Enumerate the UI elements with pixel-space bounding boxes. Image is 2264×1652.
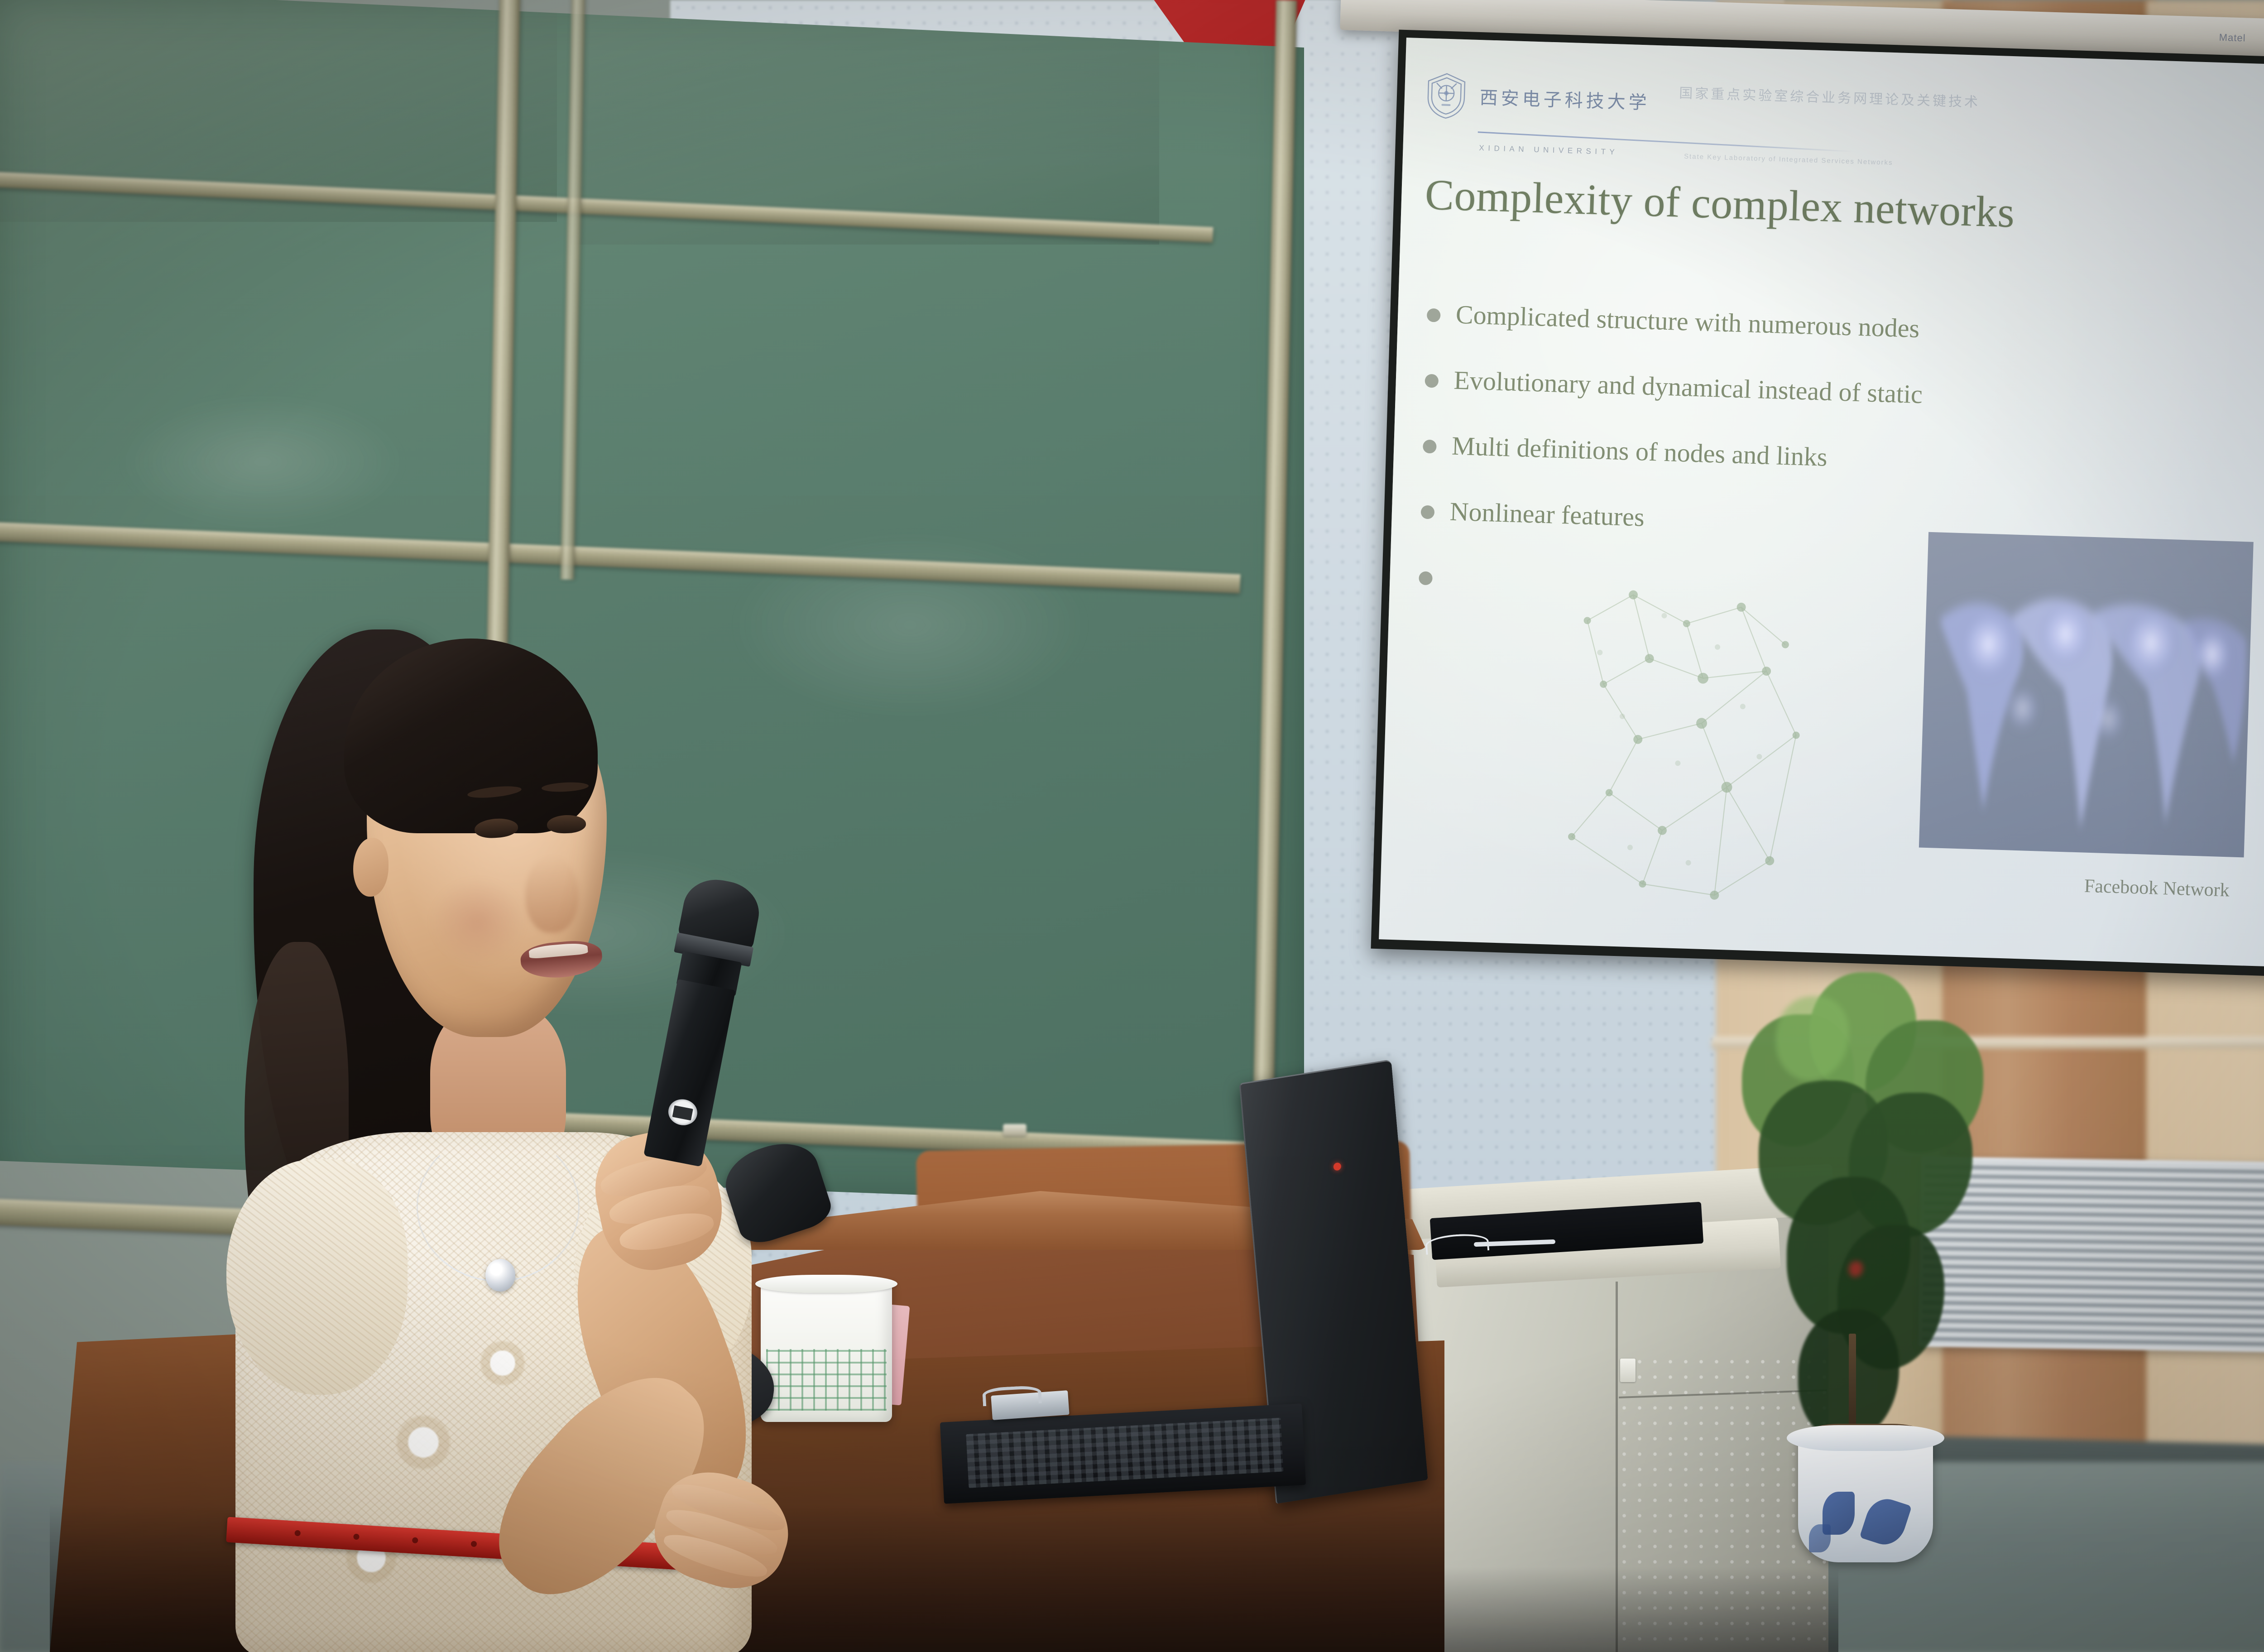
ear: [353, 838, 389, 897]
presentation-slide: 西安电子科技大学 XIDIAN UNIVERSITY 国家重点实验室综合业务网理…: [1379, 38, 2264, 967]
network-graph-figure: [1542, 557, 1824, 926]
pot-blue-motif: [1809, 1524, 1831, 1552]
figure-caption: Facebook Network: [2084, 875, 2230, 901]
bullet-dot-icon: [1427, 308, 1441, 322]
bullet-dot-icon: [1419, 571, 1433, 585]
slide-header-sub-cn: 国家重点实验室综合业务网理论及关键技术: [1679, 82, 1981, 111]
slide-bullet-item: Multi definitions of nodes and links: [1422, 432, 2253, 485]
presenter: [281, 625, 960, 1652]
bullet-dot-icon: [1425, 374, 1439, 388]
belt-hole: [412, 1537, 418, 1544]
cheek-shadow: [430, 879, 525, 965]
slide-bullet-text: Complicated structure with numerous node…: [1455, 301, 1920, 342]
cabinet-floor-shadow: [1404, 1567, 1838, 1652]
pot-rim: [1787, 1425, 1944, 1451]
potted-plant: [1725, 960, 2006, 1562]
porcelain-pot: [1798, 1436, 1933, 1562]
lace-flower: [385, 1404, 462, 1481]
slide-bullet-text: Evolutionary and dynamical instead of st…: [1453, 367, 1923, 408]
nose: [525, 856, 579, 933]
lecture-hall-photo: Matel: [0, 0, 2264, 1652]
bullet-dot-icon: [1423, 440, 1437, 454]
belt-hole: [471, 1541, 477, 1547]
slide-bullet-item: Evolutionary and dynamical instead of st…: [1425, 366, 2255, 419]
belt-hole: [353, 1534, 360, 1540]
slide-bullet-text: Nonlinear features: [1449, 498, 1645, 532]
pot-blue-motif: [1860, 1494, 1912, 1550]
lace-flower: [471, 1331, 534, 1395]
facebook-network-image: [1919, 532, 2254, 858]
slide-header-sub-en: State Key Laboratory of Integrated Servi…: [1684, 153, 1893, 167]
slide-bullet-item: Complicated structure with numerous node…: [1426, 300, 2257, 353]
laptop-keyboard-keys[interactable]: [966, 1417, 1283, 1488]
projection-screen[interactable]: 西安电子科技大学 XIDIAN UNIVERSITY 国家重点实验室综合业务网理…: [1371, 30, 2264, 977]
slide-institution-en: XIDIAN UNIVERSITY: [1479, 144, 1618, 157]
belt-hole: [294, 1530, 301, 1537]
necklace-pendant: [485, 1259, 515, 1292]
bullet-dot-icon: [1420, 505, 1434, 519]
slide-bullet-text: Multi definitions of nodes and links: [1451, 432, 1828, 471]
laptop-logo-indicator: [1333, 1162, 1341, 1171]
sleeve-left: [226, 1159, 408, 1395]
chalk-smudge-1: [118, 394, 408, 530]
slide-institution-cn: 西安电子科技大学: [1479, 83, 1650, 114]
xidian-crest-icon: [1425, 72, 1468, 120]
cabinet-label: [1620, 1359, 1636, 1382]
roller-brand-label: Matel: [2219, 31, 2246, 44]
chalkboard-clip: [1003, 1124, 1026, 1136]
